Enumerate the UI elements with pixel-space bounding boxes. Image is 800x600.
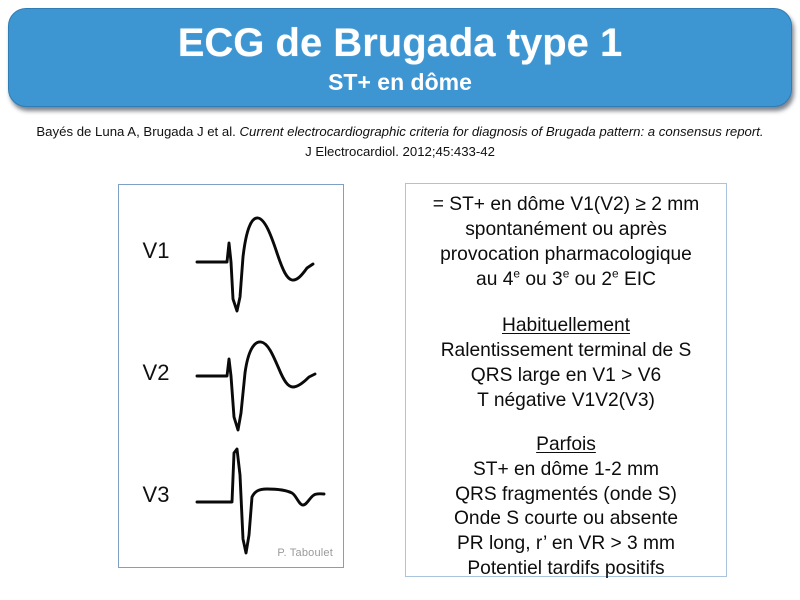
- criteria-heading-sometimes: Parfois: [414, 433, 718, 458]
- eic-prefix: au 4: [476, 269, 513, 290]
- citation-reference: Bayés de Luna A, Brugada J et al. Curren…: [36, 122, 764, 162]
- ecg-lead-row-v1: V1: [119, 191, 345, 313]
- criteria-definition-line-3: provocation pharmacologique: [414, 243, 718, 268]
- lead-label-v2: V2: [119, 362, 193, 386]
- ecg-tracings-panel: V1 V2 V3 P. Taboulet: [118, 184, 344, 568]
- citation-journal: J Electrocardiol. 2012;45:433-42: [305, 144, 495, 159]
- page-subtitle: ST+ en dôme: [328, 70, 472, 95]
- ordinal-sup-2: e: [612, 266, 619, 280]
- criteria-panel: = ST+ en dôme V1(V2) ≥ 2 mm spontanément…: [405, 183, 727, 577]
- criteria-definition-eic: au 4e ou 3e ou 2e EIC: [414, 268, 718, 293]
- ecg-lead-row-v2: V2: [119, 313, 345, 435]
- author-credit: P. Taboulet: [277, 547, 333, 559]
- criteria-sometimes-line-3: Onde S courte ou absente: [414, 507, 718, 532]
- criteria-usual-line-1: Ralentissement terminal de S: [414, 339, 718, 364]
- spacer-usual: [414, 292, 718, 314]
- ecg-waveform-v2: [193, 313, 345, 435]
- lead-label-v3: V3: [119, 484, 193, 508]
- criteria-usual-line-2: QRS large en V1 > V6: [414, 364, 718, 389]
- criteria-sometimes-line-4: PR long, r’ en VR > 3 mm: [414, 532, 718, 557]
- slide-canvas: ECG de Brugada type 1 ST+ en dôme Bayés …: [0, 0, 800, 600]
- lead-label-v1: V1: [119, 240, 193, 264]
- criteria-sometimes-line-2: QRS fragmentés (onde S): [414, 483, 718, 508]
- criteria-usual-line-3: T négative V1V2(V3): [414, 389, 718, 414]
- criteria-sometimes-line-1: ST+ en dôme 1-2 mm: [414, 458, 718, 483]
- ecg-waveform-v1: [193, 191, 345, 313]
- spacer-sometimes: [414, 414, 718, 433]
- criteria-definition-line-2: spontanément ou après: [414, 218, 718, 243]
- page-title: ECG de Brugada type 1: [178, 22, 623, 64]
- citation-authors: Bayés de Luna A, Brugada J et al.: [36, 124, 239, 139]
- eic-mid-1: ou 3: [520, 269, 563, 290]
- criteria-sometimes-line-5: Potentiel tardifs positifs: [414, 557, 718, 582]
- eic-mid-2: ou 2: [569, 269, 612, 290]
- title-banner: ECG de Brugada type 1 ST+ en dôme: [8, 8, 792, 107]
- ecg-lead-row-v3: V3: [119, 435, 345, 557]
- ecg-waveform-v3: [193, 435, 345, 557]
- citation-article-title: Current electrocardiographic criteria fo…: [239, 124, 763, 139]
- criteria-heading-usual: Habituellement: [414, 314, 718, 339]
- criteria-definition-line-1: = ST+ en dôme V1(V2) ≥ 2 mm: [414, 193, 718, 218]
- eic-suffix: EIC: [619, 269, 656, 290]
